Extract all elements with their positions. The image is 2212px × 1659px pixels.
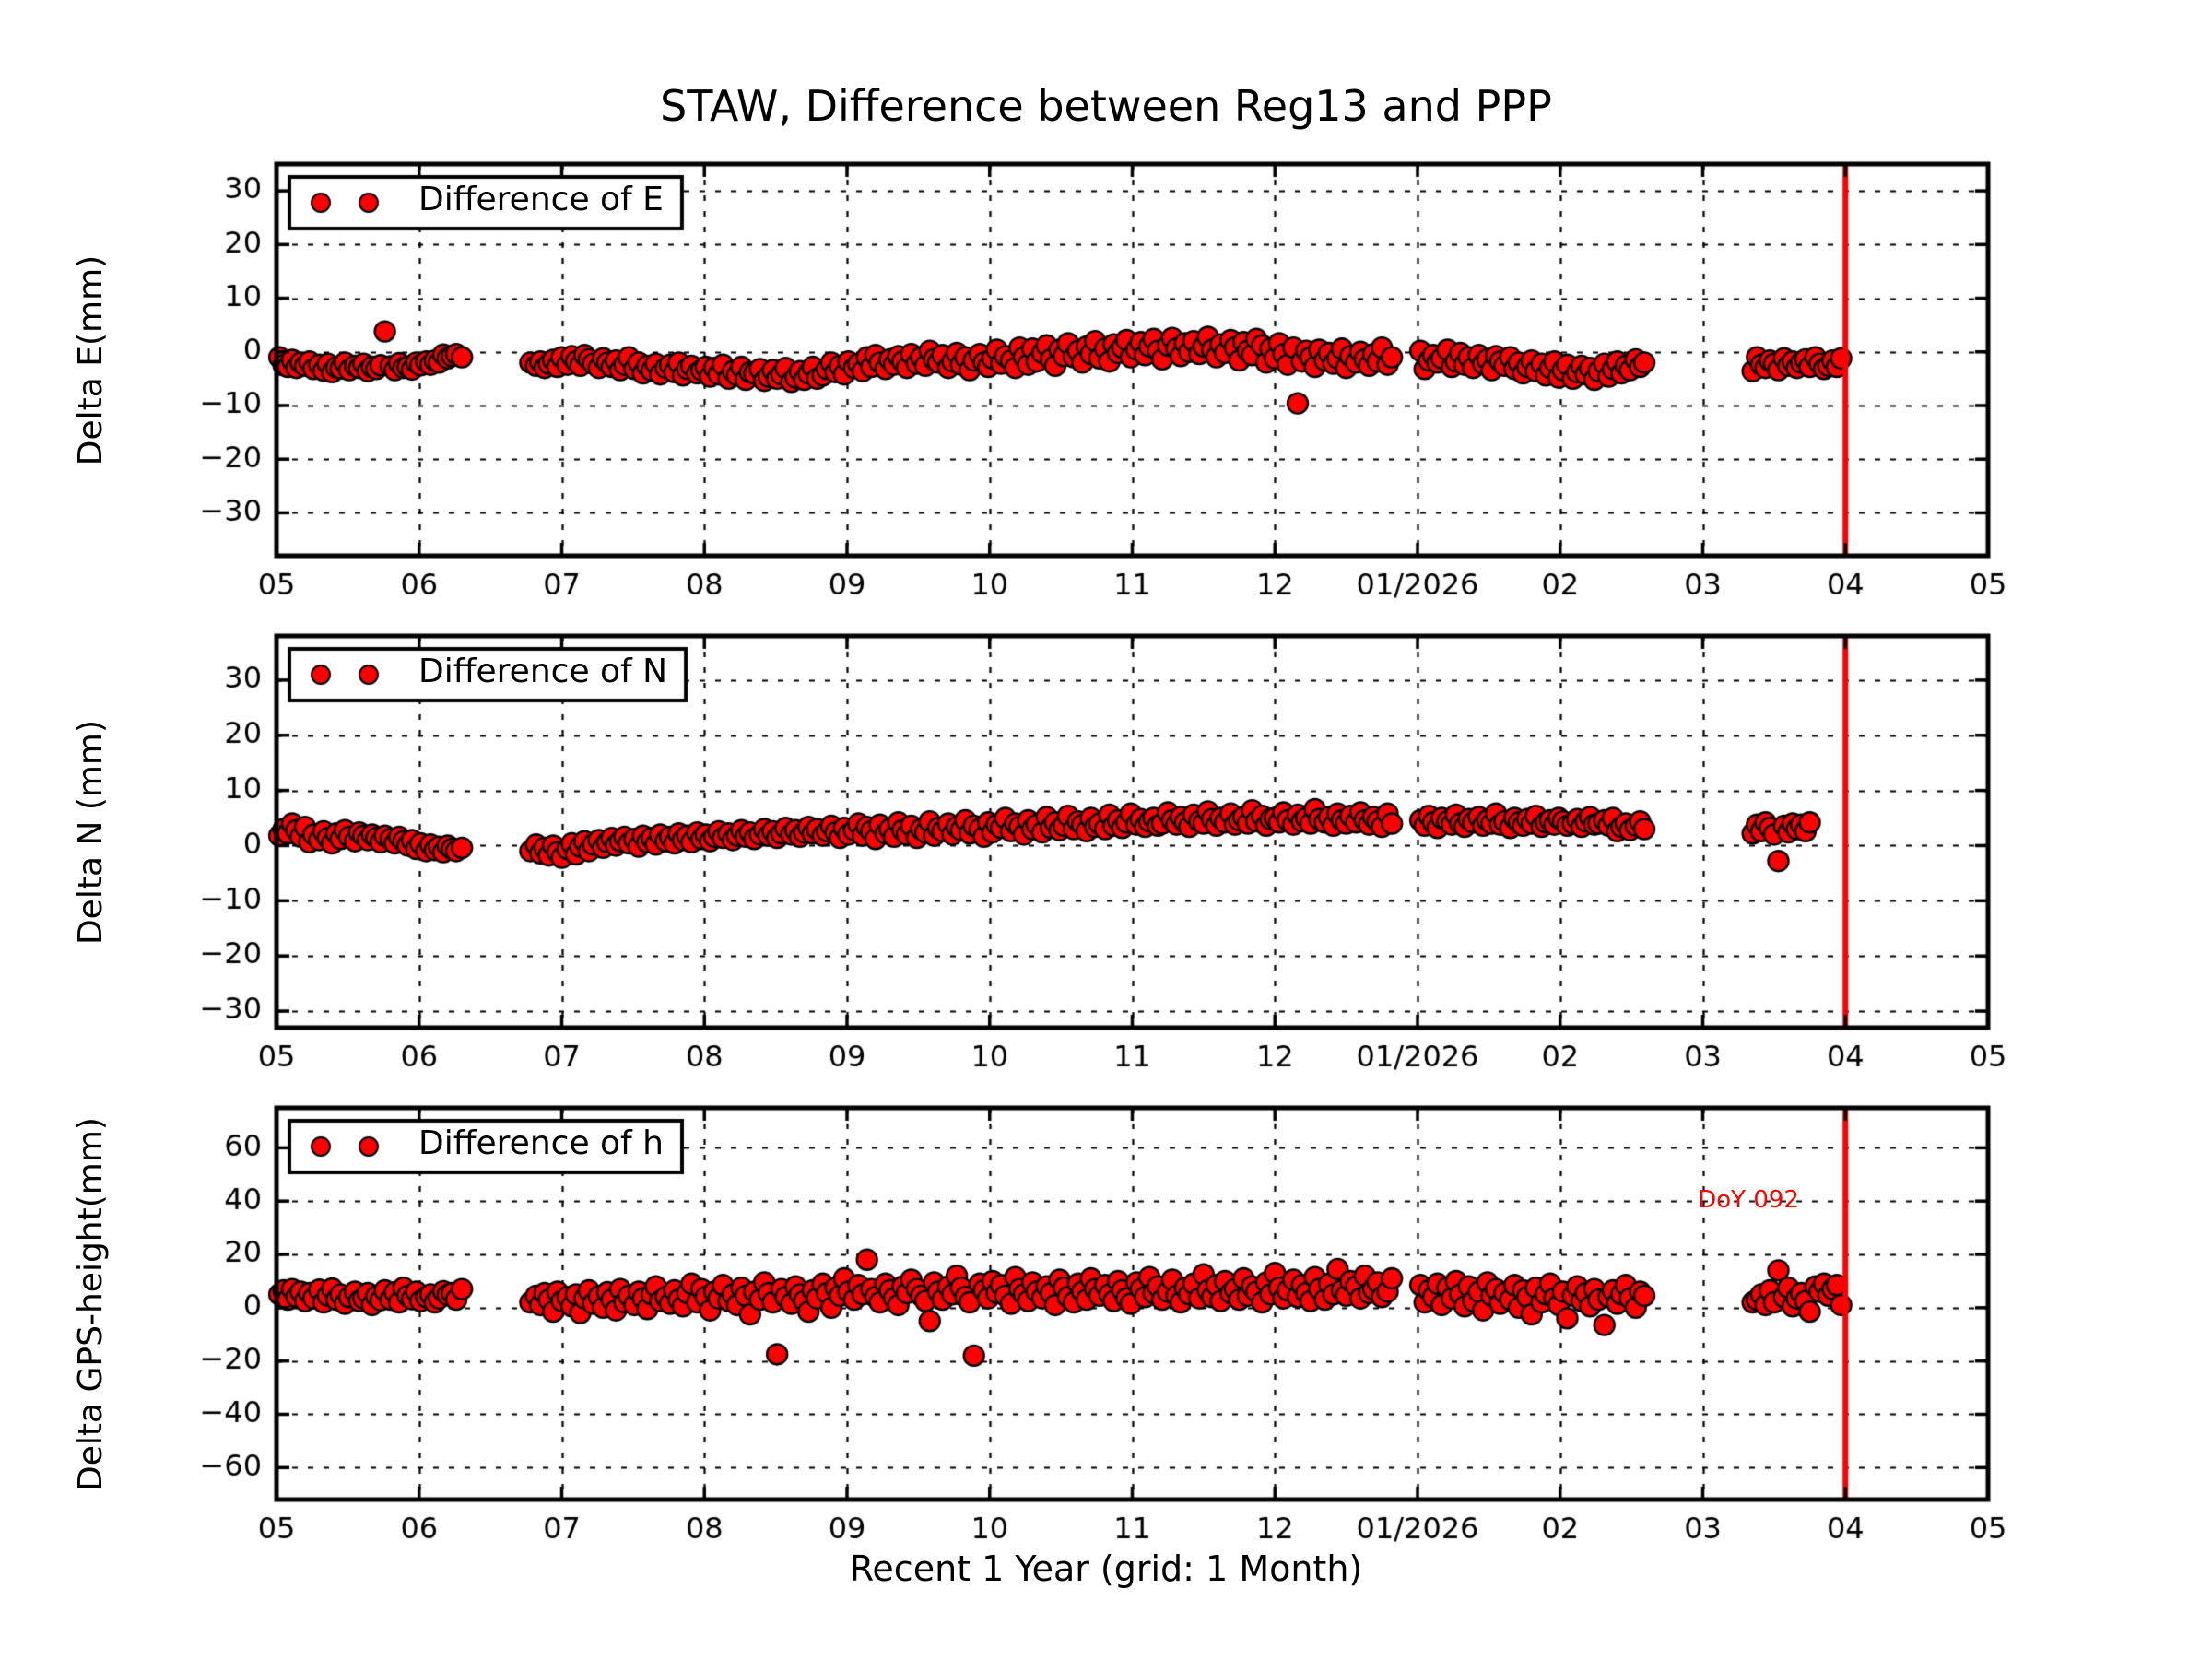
chart-figure: STAW, Difference between Reg13 and PPP D… [0,0,2212,1659]
doy-annotation: DoY 092 [1698,1186,1799,1214]
legend-label-delta-e: Difference of E [418,181,664,218]
y-axis-label-delta-n: Delta N (mm) [72,719,110,944]
x-axis-label: Recent 1 Year (grid: 1 Month) [0,1548,2212,1589]
scatter-plot-canvas [0,0,2212,1659]
y-axis-label-delta-h: Delta GPS-height(mm) [72,1117,110,1491]
legend-label-delta-h: Difference of h [418,1124,664,1162]
page-title: STAW, Difference between Reg13 and PPP [0,81,2212,131]
y-axis-label-delta-e: Delta E(mm) [72,254,110,465]
legend-label-delta-n: Difference of N [418,653,667,690]
